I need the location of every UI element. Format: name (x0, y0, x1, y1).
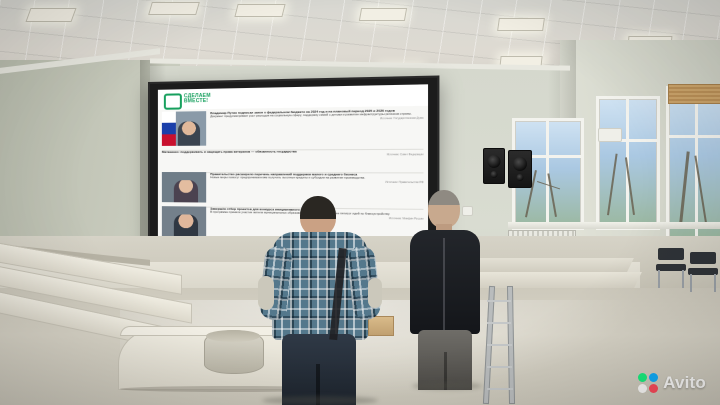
logo-icon (164, 93, 182, 109)
speaker-cone (488, 155, 501, 168)
news-thumbnail (162, 111, 206, 146)
news-thumbnail (162, 172, 206, 203)
window-mullion (669, 135, 720, 138)
ladder-rung (487, 322, 511, 324)
window-blind (668, 84, 720, 104)
ceiling-light (497, 18, 545, 31)
tree-branch (679, 151, 690, 225)
speaker-cone (513, 157, 527, 171)
person-dark-jacket (408, 190, 484, 390)
ladder-rung (487, 344, 512, 346)
window-right-2 (596, 96, 660, 230)
person-shadow (412, 382, 482, 390)
photo-subject (174, 180, 198, 202)
photo-scene: СДЕЛАЕМ ВМЕСТЕ! Владимир Путин подписал … (0, 0, 720, 405)
chair-1 (656, 248, 686, 290)
planter-rim (206, 330, 260, 342)
chair-leg (682, 270, 684, 288)
speaker-tweeter (491, 171, 498, 178)
loudspeaker-right (508, 150, 532, 188)
photo-subject (178, 121, 200, 145)
ceiling-light (359, 8, 407, 21)
chair-2 (688, 252, 718, 294)
window-right-3 (666, 86, 720, 242)
loudspeaker-left (483, 148, 505, 184)
chair-leg (690, 274, 692, 292)
window-sill (508, 222, 720, 229)
arm-gap-right (368, 278, 382, 308)
avito-logo-icon (638, 373, 658, 393)
person-head (428, 190, 460, 228)
avito-dot-blue (649, 373, 658, 382)
ceiling-light (25, 8, 76, 22)
jacket-zip (443, 238, 445, 330)
avito-dot-white (638, 384, 647, 393)
arm-gap-left (258, 276, 274, 310)
person-shadow (262, 396, 378, 405)
ceiling-light (148, 2, 200, 15)
chair-back (690, 252, 716, 264)
ladder-rung (487, 366, 512, 368)
person-jacket (410, 230, 480, 334)
news-source: Источник: Правительство РФ (210, 180, 423, 185)
news-item: Владимир Путин подписал закон о федераль… (162, 108, 424, 151)
ceiling-light (234, 4, 285, 17)
news-item: Матвиенко: поддерживать и защищать права… (162, 149, 424, 174)
person-head (300, 196, 336, 236)
news-thumbnail (162, 206, 206, 239)
avito-watermark: Avito (638, 373, 706, 393)
news-text: Владимир Путин подписал закон о федераль… (210, 108, 423, 148)
speaker-tweeter (517, 174, 524, 181)
avito-wordmark: Avito (663, 373, 706, 393)
wall-sensor-box (598, 128, 622, 142)
avito-dot-green (638, 373, 647, 382)
news-text: Матвиенко: поддерживать и защищать права… (162, 149, 424, 170)
chair-leg (658, 270, 660, 288)
person-plaid-shirt (258, 196, 384, 405)
ladder-rung (487, 388, 513, 390)
chair-back (658, 248, 684, 260)
avito-dot-red (649, 384, 658, 393)
chair-leg (714, 274, 716, 292)
tree-branch (607, 154, 618, 216)
ladder-rung (487, 300, 511, 302)
logo-line-2: ВМЕСТЕ! (184, 99, 211, 105)
flag-icon (162, 112, 176, 146)
